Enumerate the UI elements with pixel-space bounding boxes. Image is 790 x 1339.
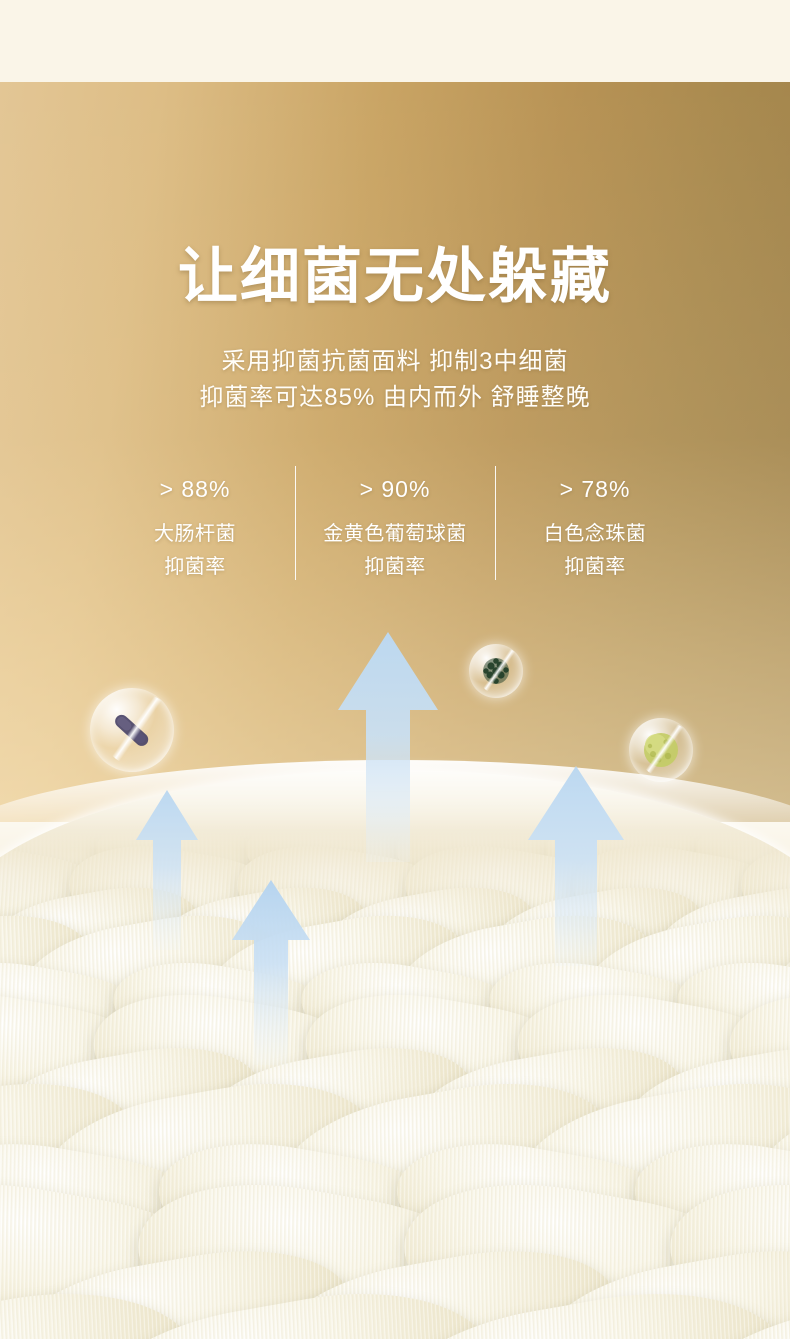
bubble-glint — [102, 693, 176, 767]
stat-label-line-1: 大肠杆菌 — [95, 502, 295, 551]
subtitle-line-2: 抑菌率可达85% 由内而外 舒睡整晚 — [0, 381, 790, 415]
stat-column-ecoli: > 88% 大肠杆菌 抑菌率 — [95, 462, 295, 584]
antibacterial-stats-row: > 88% 大肠杆菌 抑菌率 > 90% 金黄色葡萄球菌 抑菌率 > 78% 白… — [95, 462, 695, 584]
stat-label-line-1: 白色念珠菌 — [495, 502, 695, 551]
stat-value: > 88% — [95, 462, 295, 502]
stat-label-line-2: 抑菌率 — [295, 551, 495, 584]
germ-bubble-ecoli — [90, 688, 174, 772]
subtitle-line-1: 采用抑菌抗菌面料 抑制3中细菌 — [0, 345, 790, 379]
page-title: 让细菌无处躲藏 — [0, 243, 790, 311]
fabric-depth-haze — [0, 770, 790, 920]
bubble-glint — [638, 722, 694, 778]
stat-value: > 90% — [295, 462, 495, 502]
top-cream-strip — [0, 0, 790, 82]
stat-label-line-1: 金黄色葡萄球菌 — [295, 502, 495, 551]
germ-bubble-staphylococcus — [469, 644, 523, 698]
woven-fabric-macro — [0, 770, 790, 1339]
stat-column-staphylococcus: > 90% 金黄色葡萄球菌 抑菌率 — [295, 462, 495, 584]
promo-page: 让细菌无处躲藏 采用抑菌抗菌面料 抑制3中细菌 抑菌率可达85% 由内而外 舒睡… — [0, 0, 790, 1339]
stat-label-line-2: 抑菌率 — [95, 551, 295, 584]
bubble-glint — [477, 647, 525, 695]
stat-label-line-2: 抑菌率 — [495, 551, 695, 584]
stat-value: > 78% — [495, 462, 695, 502]
germ-bubble-candida — [629, 718, 693, 782]
stat-column-candida: > 78% 白色念珠菌 抑菌率 — [495, 462, 695, 584]
